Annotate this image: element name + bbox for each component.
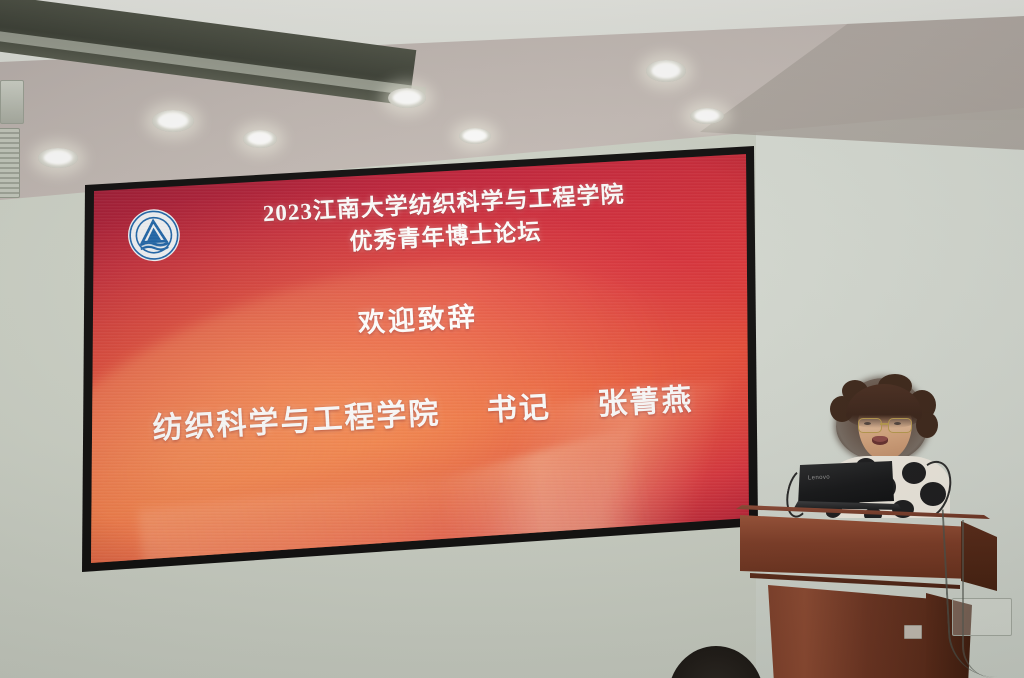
speaker-glasses-icon	[858, 418, 914, 431]
downlight-hotspot	[158, 114, 188, 128]
recessed-downlight	[243, 130, 277, 148]
downlight-hotspot	[695, 111, 719, 121]
recessed-downlight	[459, 128, 491, 144]
lectern-label-plate	[904, 625, 922, 639]
ceiling-sensor-box	[0, 80, 24, 124]
downlight-hotspot	[44, 152, 73, 164]
downlight-hotspot	[652, 64, 681, 78]
speaker-mouth	[872, 436, 888, 445]
power-cable-secondary	[962, 520, 994, 678]
air-vent-grille	[0, 128, 20, 198]
recessed-downlight	[388, 88, 426, 108]
recessed-downlight	[646, 60, 686, 82]
lectern-front-panel	[740, 513, 972, 579]
glasses-bridge	[880, 423, 888, 425]
screen-vignette	[82, 146, 758, 572]
recessed-downlight	[690, 108, 724, 124]
downlight-hotspot	[463, 131, 486, 141]
conference-photo: 2023江南大学纺织科学与工程学院 优秀青年博士论坛 欢迎致辞 纺织科学与工程学…	[0, 0, 1024, 678]
recessed-downlight	[152, 110, 194, 132]
glasses-lens-left	[858, 418, 882, 433]
glasses-lens-right	[888, 418, 912, 433]
recessed-downlight	[38, 148, 78, 168]
projection-screen[interactable]: 2023江南大学纺织科学与工程学院 优秀青年博士论坛 欢迎致辞 纺织科学与工程学…	[82, 146, 758, 572]
downlight-hotspot	[393, 92, 420, 104]
